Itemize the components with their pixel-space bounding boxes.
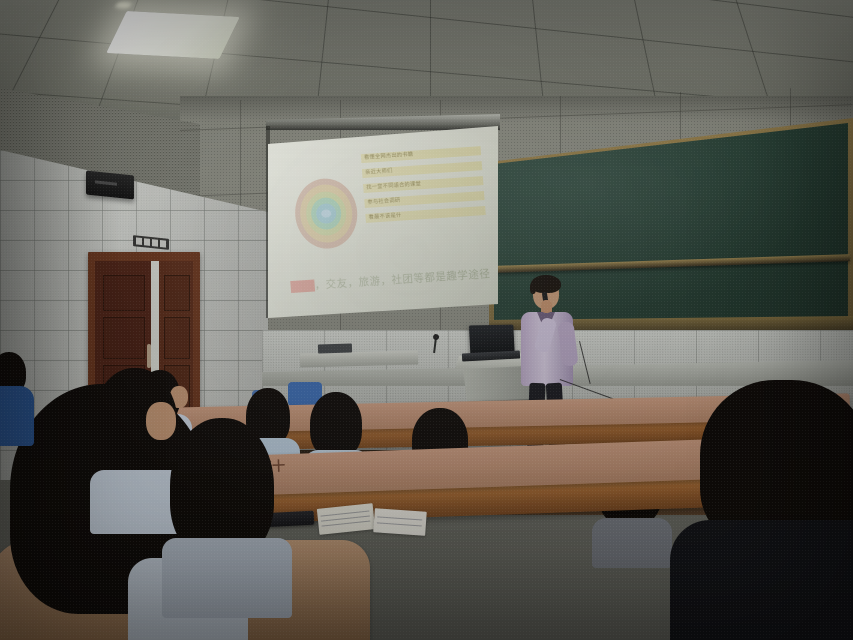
ceiling-light-panel [106,11,240,59]
slide-caption-rest: ，交友，旅游，社团等都是趣学途径 [314,268,491,292]
student-torso [162,538,292,618]
wall-speaker [86,170,134,199]
student-torso [0,386,34,446]
projector-screen: 看懂全网杰出的书籍 亲近大师们 找一堂不同适合的课堂 参与社会调研 看最不该是什… [266,114,500,324]
student-torso [592,518,672,568]
lecture-hall-photo: 看懂全网杰出的书籍 亲近大师们 找一堂不同适合的课堂 参与社会调研 看最不该是什… [0,0,853,640]
slide-bullet: 看懂全网杰出的书籍 [361,146,481,163]
student-hair [310,392,362,458]
concentric-rings-diagram [293,177,360,251]
presenter-hand [541,300,552,313]
slide-bullet: 亲近大师们 [362,161,482,178]
slide-bullet: 参与社会调研 [364,191,484,208]
door-handle[interactable] [147,344,151,368]
slide-bullet: 看最不该是什 [365,206,485,223]
loose-papers [373,508,427,536]
screen-surface: 看懂全网杰出的书籍 亲近大师们 找一堂不同适合的课堂 参与社会调研 看最不该是什… [268,126,498,318]
presentation-slide: 看懂全网杰出的书籍 亲近大师们 找一堂不同适合的课堂 参与社会调研 看最不该是什… [272,133,498,311]
open-notebook [317,503,375,535]
slide-bullet-list: 看懂全网杰出的书籍 亲近大师们 找一堂不同适合的课堂 参与社会调研 看最不该是什 [361,146,486,229]
presenter-hair [531,275,561,293]
screen-roller-housing [266,114,500,130]
student-face [146,402,176,440]
slide-bullet: 找一堂不同适合的课堂 [363,176,483,193]
av-equipment [318,343,352,353]
student-torso [670,520,853,640]
slide-caption-highlight: 阅读 [290,279,315,293]
slide-caption: 阅读，交友，旅游，社团等都是趣学途径 [290,267,498,294]
